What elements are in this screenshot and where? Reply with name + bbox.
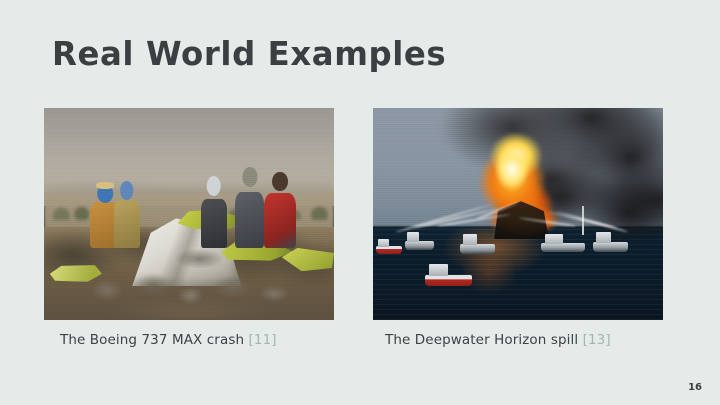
- worker-body: [264, 193, 296, 248]
- slide: Real World Examples: [0, 0, 720, 405]
- figure-caption-text: The Deepwater Horizon spill: [385, 332, 578, 348]
- figure-caption: The Deepwater Horizon spill [13]: [373, 332, 663, 348]
- recovery-worker: [264, 172, 296, 248]
- photo-boeing-737-max-crash: [44, 108, 334, 320]
- worker-body: [114, 200, 140, 247]
- boat-hull: [425, 275, 471, 286]
- worker-body: [201, 199, 227, 248]
- boat-superstructure: [463, 234, 478, 245]
- worker-hat: [96, 182, 114, 190]
- figure-deepwater-horizon-spill: The Deepwater Horizon spill [13]: [373, 108, 663, 348]
- recovery-worker: [235, 167, 264, 248]
- boat-superstructure: [407, 232, 419, 242]
- photo-deepwater-horizon-spill: [373, 108, 663, 320]
- boat-superstructure: [429, 264, 448, 276]
- figure-reference: [11]: [249, 332, 277, 348]
- worker-head: [242, 167, 257, 186]
- boat-hull: [541, 243, 585, 252]
- figure-caption-text: The Boeing 737 MAX crash: [60, 332, 244, 348]
- boat-hull: [593, 242, 628, 252]
- support-vessel: [541, 235, 585, 252]
- foreground-fireboat: [425, 265, 471, 286]
- fireboat: [460, 235, 495, 254]
- figure-boeing-737-max-crash: The Boeing 737 MAX crash [11]: [44, 108, 334, 348]
- fireboat: [593, 233, 628, 252]
- boat-hull: [460, 244, 495, 254]
- figure-caption: The Boeing 737 MAX crash [11]: [44, 332, 334, 348]
- fireboat: [376, 239, 402, 254]
- boat-superstructure: [378, 239, 389, 248]
- figure-reference: [13]: [583, 332, 611, 348]
- page-number: 16: [688, 382, 702, 393]
- recovery-worker: [114, 180, 140, 248]
- boat-hull: [405, 241, 434, 250]
- fireboat: [405, 233, 434, 250]
- worker-head: [206, 176, 221, 196]
- boat-superstructure: [545, 234, 563, 244]
- debris-field: [79, 273, 311, 315]
- fire-core: [489, 142, 535, 197]
- boat-superstructure: [596, 232, 611, 243]
- worker-head: [120, 181, 134, 200]
- worker-body: [235, 192, 264, 248]
- boat-hull: [376, 246, 402, 254]
- page-title: Real World Examples: [52, 34, 446, 73]
- recovery-worker: [201, 176, 227, 248]
- worker-head: [272, 172, 288, 192]
